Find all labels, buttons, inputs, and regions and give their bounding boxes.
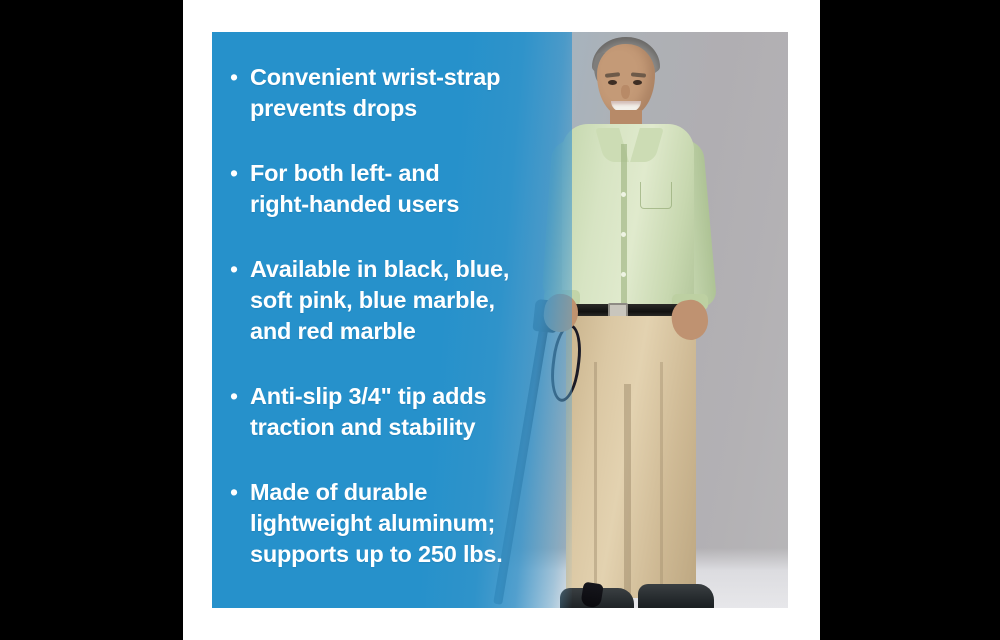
bullet-dot-icon: • (230, 381, 250, 443)
feature-bullet-text: Available in black, blue, soft pink, blu… (250, 254, 509, 347)
letterbox-bar-right (820, 0, 1000, 640)
bullet-dot-icon: • (230, 477, 250, 570)
feature-bullet-anti-slip-tip: • Anti-slip 3/4" tip adds traction and s… (230, 381, 566, 443)
bullet-dot-icon: • (230, 62, 250, 124)
feature-bullet-wrist-strap: • Convenient wrist-strap prevents drops (230, 62, 566, 124)
cane-anti-slip-tip (580, 582, 604, 608)
product-feature-card: • Convenient wrist-strap prevents drops … (212, 32, 788, 608)
feature-bullet-list: • Convenient wrist-strap prevents drops … (230, 62, 566, 604)
feature-bullet-colors: • Available in black, blue, soft pink, b… (230, 254, 566, 347)
feature-bullet-handedness: • For both left- and right-handed users (230, 158, 566, 220)
feature-bullet-text: For both left- and right-handed users (250, 158, 459, 220)
letterbox-bar-left (0, 0, 183, 640)
bullet-dot-icon: • (230, 254, 250, 347)
feature-bullet-material: • Made of durable lightweight aluminum; … (230, 477, 566, 570)
feature-bullet-text: Made of durable lightweight aluminum; su… (250, 477, 503, 570)
feature-list-panel: • Convenient wrist-strap prevents drops … (212, 32, 572, 608)
bullet-dot-icon: • (230, 158, 250, 220)
feature-bullet-text: Convenient wrist-strap prevents drops (250, 62, 500, 124)
screenshot-stage: • Convenient wrist-strap prevents drops … (0, 0, 1000, 640)
feature-bullet-text: Anti-slip 3/4" tip adds traction and sta… (250, 381, 486, 443)
